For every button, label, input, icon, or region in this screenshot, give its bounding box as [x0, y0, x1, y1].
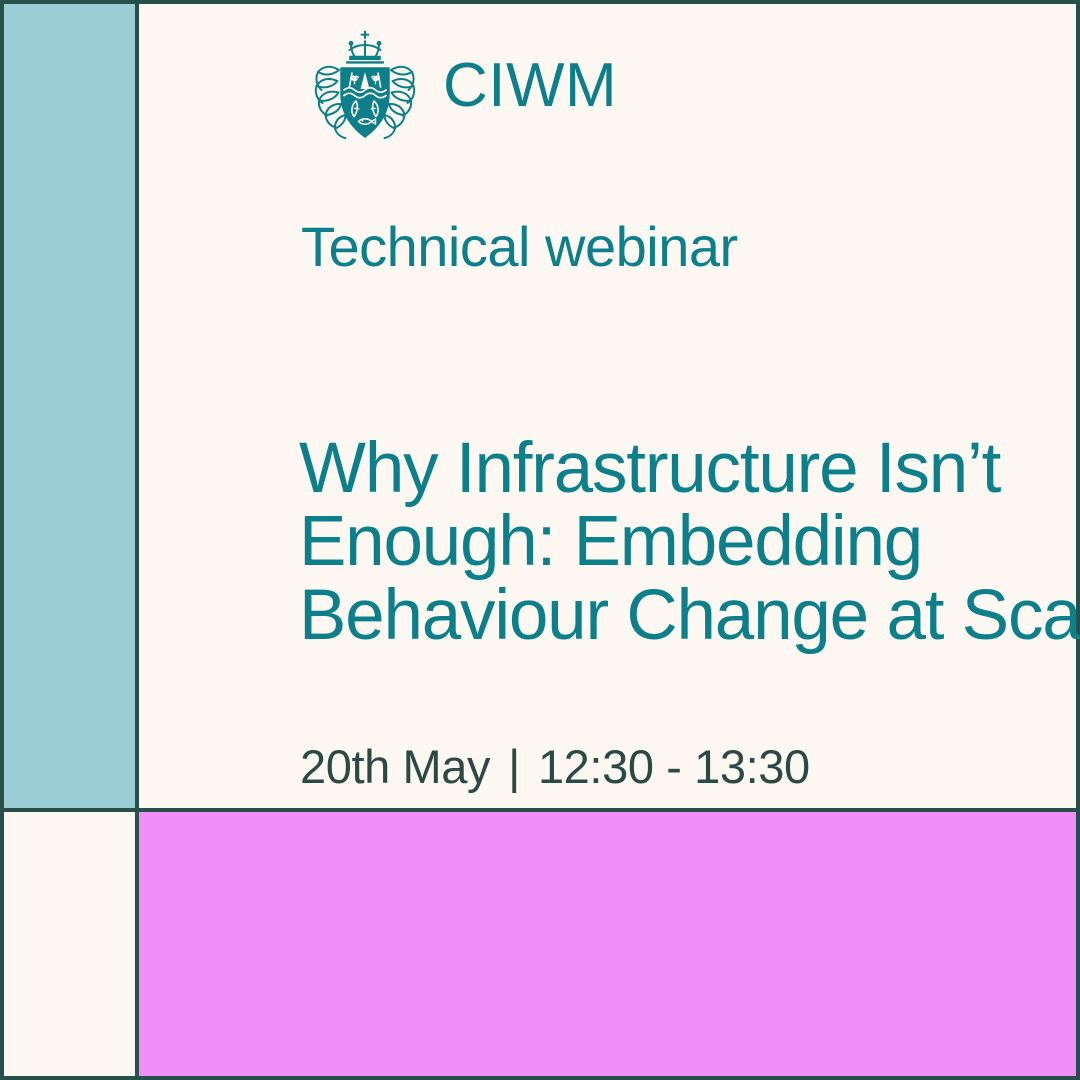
- event-title-line-1: Why Infrastructure Isn’t: [299, 432, 1080, 505]
- event-title: Why Infrastructure Isn’t Enough: Embeddi…: [299, 432, 1080, 652]
- brand-lockup: CIWM: [309, 27, 617, 145]
- sidebar-accent-block: [4, 4, 135, 808]
- schedule-separator: |: [490, 739, 538, 794]
- event-title-line-3: Behaviour Change at Scale: [299, 579, 1080, 652]
- event-time: 12:30 - 13:30: [538, 739, 810, 794]
- event-schedule: 20th May | 12:30 - 13:30: [300, 739, 810, 794]
- webinar-promo-card: CIWM Technical webinar Why Infrastructur…: [0, 0, 1080, 1080]
- sidebar-lower-block: [4, 812, 135, 1076]
- brand-wordmark: CIWM: [443, 55, 617, 117]
- footer-accent-block: [139, 812, 1076, 1076]
- event-date: 20th May: [300, 739, 490, 794]
- event-title-line-2: Enough: Embedding: [299, 505, 1080, 578]
- eyebrow-label: Technical webinar: [301, 216, 738, 278]
- main-content-panel: CIWM Technical webinar Why Infrastructur…: [139, 4, 1076, 808]
- ciwm-crest-icon: [309, 27, 421, 145]
